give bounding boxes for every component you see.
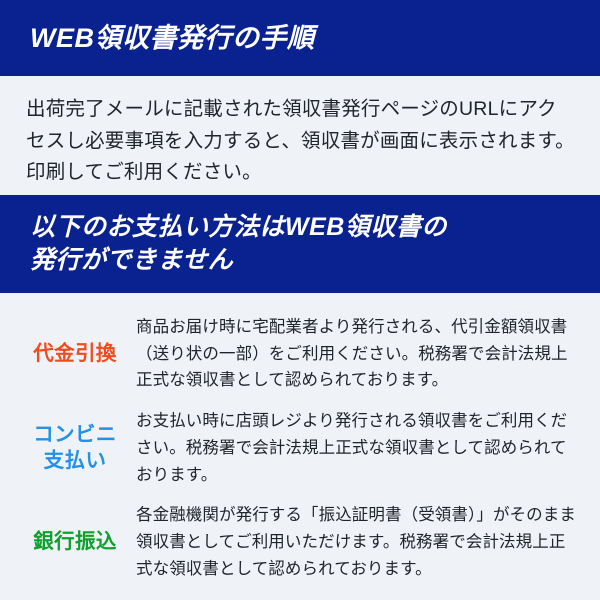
page-header-banner: WEB領収書発行の手順 [0, 0, 600, 76]
payment-method-description: お支払い時に店頭レジより発行される領収書をご利用ください。税務署で会計法規上正式… [136, 408, 578, 488]
notice-title: 以下のお支払い方法はWEB領収書の 発行ができません [30, 211, 447, 277]
page-title: WEB領収書発行の手順 [30, 22, 315, 55]
payment-method-label: 代金引換 [24, 341, 136, 367]
payment-method-description: 商品お届け時に宅配業者より発行される、代引金額領収書（送り状の一部）をご利用くだ… [136, 314, 578, 394]
payment-method-label: コンビニ 支払い [24, 422, 136, 474]
payment-method-label: 銀行振込 [24, 529, 136, 555]
payment-method-row-bank: 銀行振込 各金融機関が発行する「振込証明書（受領書）」がそのまま領収書としてご利… [0, 495, 600, 589]
payment-method-description: 各金融機関が発行する「振込証明書（受領書）」がそのまま領収書としてご利用いただけ… [136, 502, 578, 582]
payment-method-row-konbini: コンビニ 支払い お支払い時に店頭レジより発行される領収書をご利用ください。税務… [0, 401, 600, 495]
intro-section: 出荷完了メールに記載された領収書発行ページのURLにアクセスし必要事項を入力する… [0, 76, 600, 195]
payment-methods-list: 代金引換 商品お届け時に宅配業者より発行される、代引金額領収書（送り状の一部）を… [0, 293, 600, 589]
receipt-instructions-page: WEB領収書発行の手順 出荷完了メールに記載された領収書発行ページのURLにアク… [0, 0, 600, 600]
notice-banner: 以下のお支払い方法はWEB領収書の 発行ができません [0, 195, 600, 293]
intro-paragraph: 出荷完了メールに記載された領収書発行ページのURLにアクセスし必要事項を入力する… [26, 94, 576, 189]
payment-method-row-cod: 代金引換 商品お届け時に宅配業者より発行される、代引金額領収書（送り状の一部）を… [0, 307, 600, 401]
